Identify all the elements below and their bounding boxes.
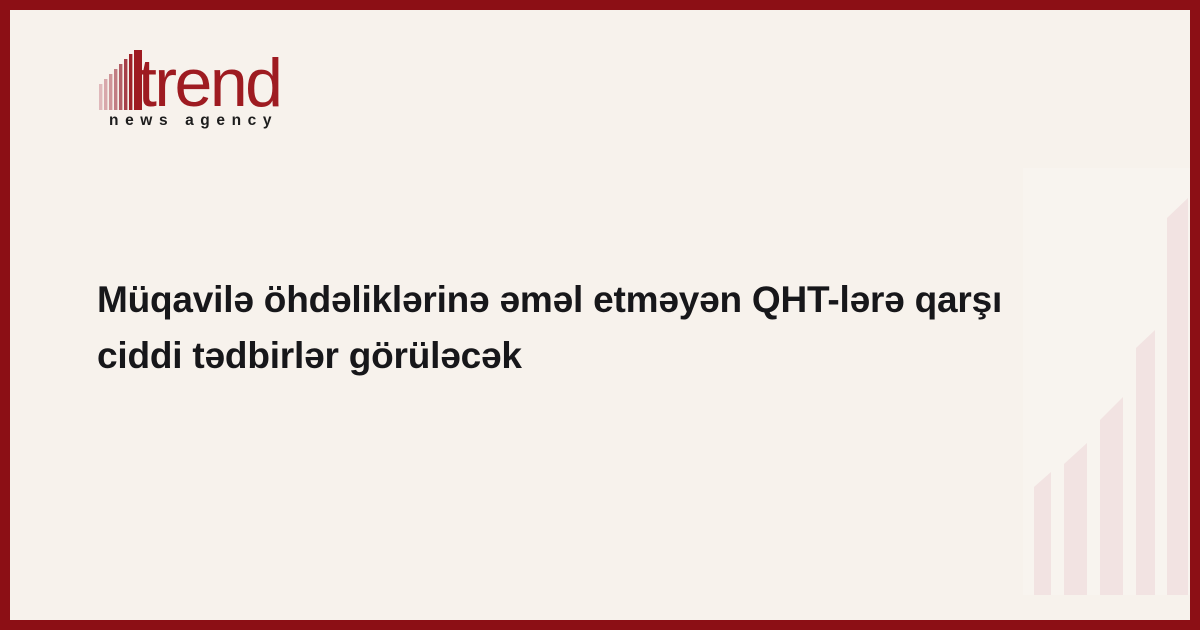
headline: Müqavilə öhdəliklərinə əməl etməyən QHT-… bbox=[97, 272, 1047, 384]
logo-tagline: news agency bbox=[109, 112, 278, 130]
headline-line-2: ciddi tədbirlər görüləcək bbox=[97, 328, 1047, 384]
news-card: trend news agency Müqavilə öhdəliklərinə… bbox=[0, 0, 1200, 630]
watermark-bar-4 bbox=[1136, 330, 1155, 595]
watermark-bar-5 bbox=[1167, 198, 1188, 595]
watermark-bar-1 bbox=[1034, 472, 1051, 595]
logo-wordmark-row: trend bbox=[97, 48, 427, 110]
trend-news-agency-logo[interactable]: trend news agency bbox=[97, 48, 427, 140]
logo-wordmark-text: trend bbox=[138, 48, 281, 110]
watermark-bar-3 bbox=[1100, 397, 1123, 595]
headline-line-1: Müqavilə öhdəliklərinə əməl etməyən QHT-… bbox=[97, 272, 1047, 328]
watermark-bar-2 bbox=[1064, 443, 1087, 595]
watermark-panel bbox=[1023, 168, 1190, 595]
logo-bars-icon bbox=[99, 50, 142, 110]
